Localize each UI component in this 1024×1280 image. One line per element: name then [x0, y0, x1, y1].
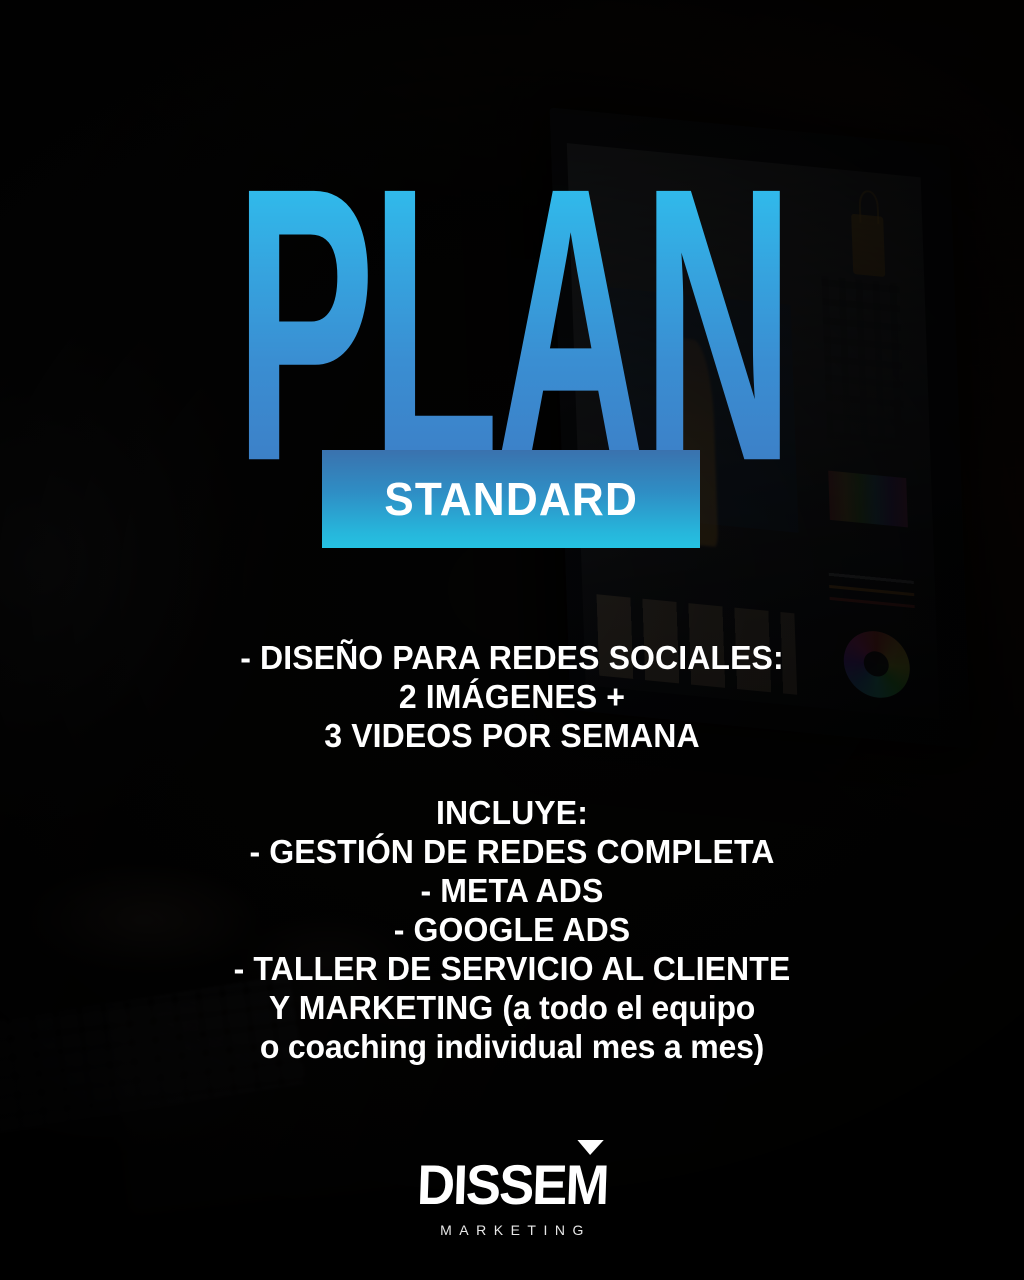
plan-wordmark-text: PLAN [235, 168, 790, 480]
feature-line-coaching: o coaching individual mes a mes) [15, 1027, 1008, 1066]
plan-wordmark: PLAN [0, 168, 1024, 410]
triangle-down-icon [576, 1140, 603, 1155]
feature-line-marketing: Y MARKETING (a todo el equipo [15, 988, 1008, 1027]
feature-line: - GOOGLE ADS [15, 910, 1008, 949]
feature-line: - GESTIÓN DE REDES COMPLETA [15, 832, 1008, 871]
poster-content: PLAN PLAN STANDARD - DISEÑO PARA REDES S… [0, 0, 1024, 1280]
feature-line: 2 IMÁGENES + [15, 677, 1008, 716]
feature-block-deliverables: - DISEÑO PARA REDES SOCIALES: 2 IMÁGENES… [15, 638, 1008, 755]
plan-tier-badge-label: STANDARD [384, 472, 638, 526]
brand-logo-name-text: DISSEM [416, 1153, 609, 1216]
feature-line: - TALLER DE SERVICIO AL CLIENTE [15, 949, 1008, 988]
feature-copy: - DISEÑO PARA REDES SOCIALES: 2 IMÁGENES… [0, 638, 1024, 1066]
feature-line-marketing-paren: (a todo el equipo [502, 989, 755, 1026]
brand-logo-tagline: MARKETING [0, 1222, 1024, 1238]
brand-logo-name: DISSEM [416, 1157, 608, 1213]
feature-line: - DISEÑO PARA REDES SOCIALES: [15, 638, 1008, 677]
feature-line: INCLUYE: [15, 793, 1008, 832]
feature-line: 3 VIDEOS POR SEMANA [15, 716, 1008, 755]
promo-poster: PLAN PLAN STANDARD - DISEÑO PARA REDES S… [0, 0, 1024, 1280]
feature-block-spacer [0, 755, 1024, 793]
feature-line-marketing-prefix: Y MARKETING [269, 989, 503, 1026]
feature-block-includes: INCLUYE: - GESTIÓN DE REDES COMPLETA - M… [15, 793, 1008, 1066]
feature-line: - META ADS [15, 871, 1008, 910]
plan-tier-badge: STANDARD [322, 450, 700, 548]
brand-logo: DISSEM MARKETING [0, 1157, 1024, 1238]
